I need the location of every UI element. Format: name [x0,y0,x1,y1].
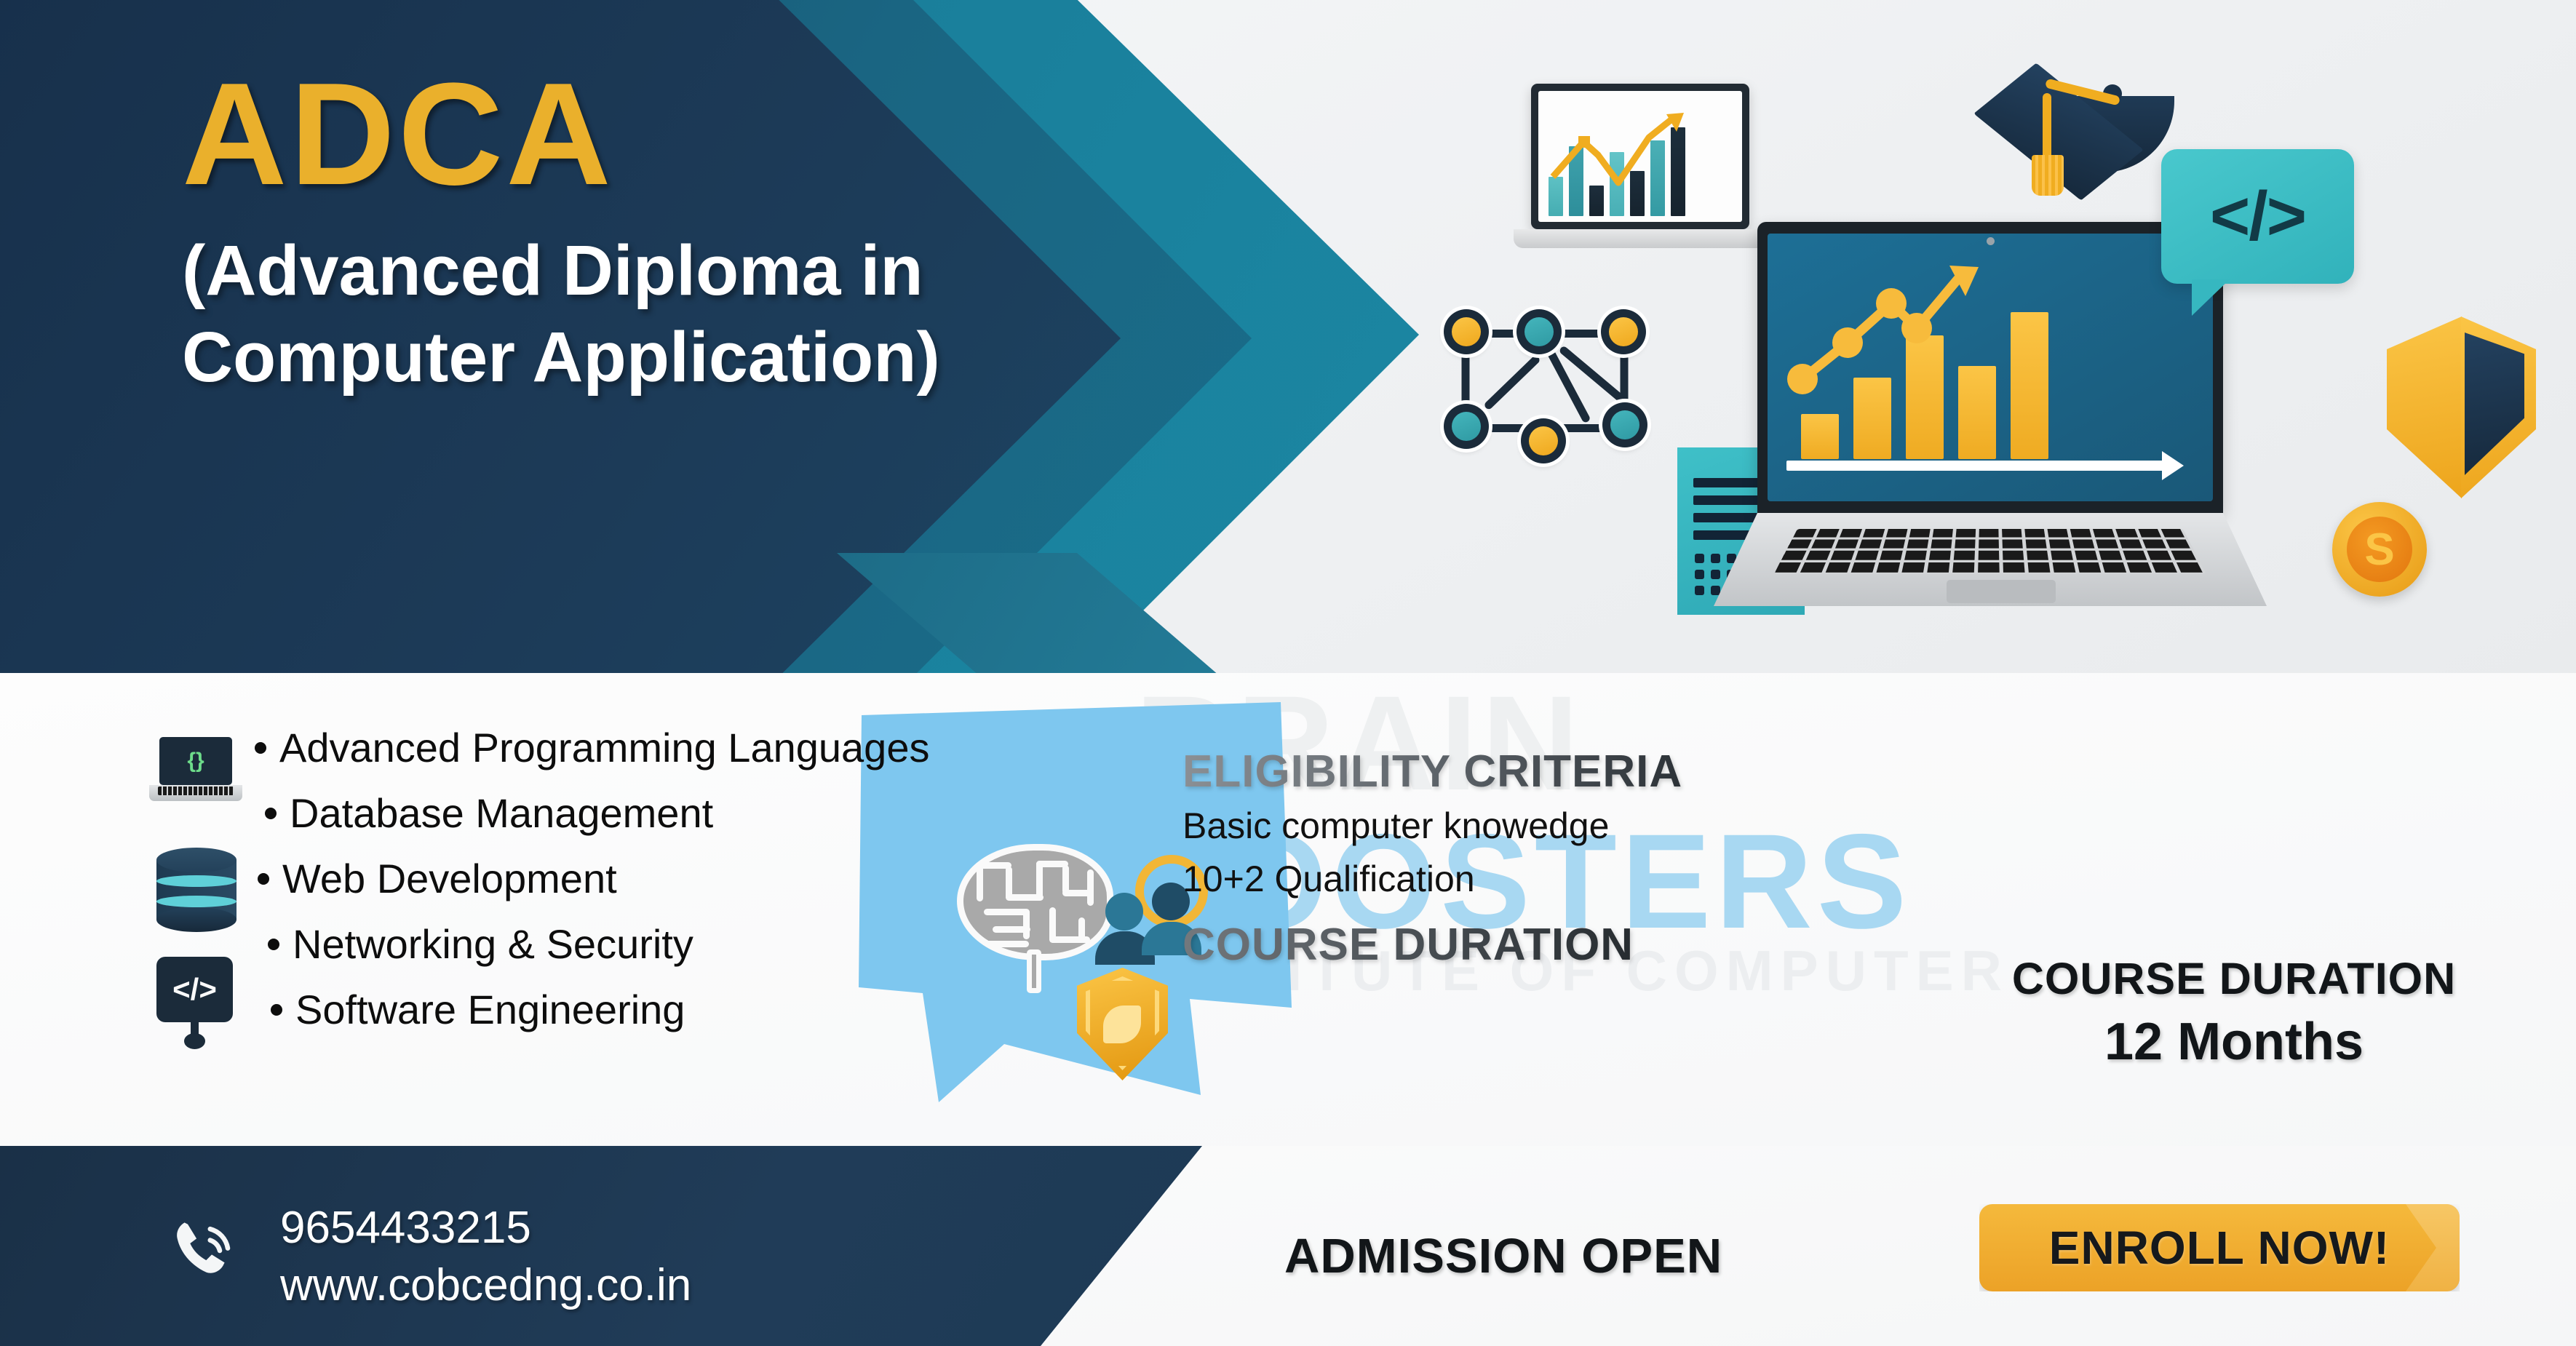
db-ring [156,896,236,907]
network-node [1516,309,1562,354]
laptop-icon-keys [158,787,234,795]
laptop-code-icon: {} [149,737,242,810]
laptop-trackpad [1947,580,2056,603]
code-icon-box: </> [156,957,233,1022]
bullet-dot [258,873,269,885]
db-ring [156,875,236,887]
db-bottom [156,907,236,932]
list-item-label: Advanced Programming Languages [279,725,929,770]
course-full-name: (Advanced Diploma in Computer Applicatio… [182,227,1142,401]
bullet-dot [265,808,277,819]
eligibility-line-2: 10+2 Qualification [1182,858,1910,901]
laptop-icon-screen: {} [159,737,232,785]
network-nodes-icon [1441,309,1681,477]
syllabus-list: Advanced Programming Languages Database … [255,728,1128,1055]
bullet-dot [255,742,266,754]
bullet-dot [271,1004,282,1016]
course-duration-value: 12 Months [1957,1016,2511,1068]
contact-website[interactable]: www.cobcedng.co.in [280,1257,691,1314]
code-bubble-text: </> [2161,149,2354,284]
list-item-label: Software Engineering [295,987,685,1032]
list-item: Software Engineering [271,989,1128,1030]
eligibility-block: ELIGIBILITY CRITERIA Basic computer know… [1182,749,1910,968]
list-item: Advanced Programming Languages [255,728,1128,768]
contact-info: 9654433215 www.cobcedng.co.in [280,1199,691,1315]
network-node [1444,309,1489,354]
course-duration-block: COURSE DURATION 12 Months [1957,957,2511,1068]
list-item-label: Networking & Security [293,921,693,967]
mini-laptop-screen [1531,84,1749,229]
db-top [156,848,236,872]
list-item-label: Database Management [290,790,713,836]
admission-open-text: ADMISSION OPEN [1284,1228,1722,1284]
tassel-cord [2043,93,2051,160]
dollar-coin-icon: S [2332,502,2427,597]
shield-left-half [2387,316,2462,498]
coin-symbol: S [2347,517,2412,582]
laptop-keyboard [1774,529,2206,574]
laptop-axis-arrow [1786,461,2165,471]
network-node [1444,404,1489,449]
promo-banner: ADCA (Advanced Diploma in Computer Appli… [0,0,2576,1346]
network-node [1601,309,1646,354]
bullet-dot [268,939,279,950]
list-item: Networking & Security [268,924,1128,965]
laptop-screen [1757,222,2223,513]
code-icon-foot [184,1033,205,1049]
enroll-now-label: ENROLL NOW! [2049,1221,2390,1275]
phone-icon [164,1211,244,1291]
list-item-label: Web Development [282,856,617,901]
list-item: Web Development [258,859,1128,899]
tassel-fringe [2032,155,2064,196]
course-full-name-line2: Computer Application) [182,314,1142,400]
list-item: Database Management [265,793,1128,834]
contact-phone[interactable]: 9654433215 [280,1199,691,1257]
course-code-title: ADCA [182,58,1142,211]
code-tag-icon: </> [149,957,240,1048]
database-icon [156,848,236,931]
growth-trend-line-icon [1768,234,2204,474]
enroll-now-button[interactable]: ENROLL NOW! [1979,1204,2460,1291]
laptop-screen-content [1768,234,2213,501]
network-node [1521,418,1566,463]
enroll-ribbon-notch [2406,1204,2460,1291]
eligibility-heading: ELIGIBILITY CRITERIA [1182,749,1910,795]
mini-laptop-chart [1538,91,1742,222]
course-full-name-line1: (Advanced Diploma in [182,227,1142,314]
illustration-cluster: </> S [1426,0,2576,713]
mini-trend-line-icon [1538,91,1742,222]
network-node [1602,402,1647,447]
code-speech-bubble-icon: </> [2161,149,2354,284]
course-duration-heading-mid: COURSE DURATION [1182,923,1910,968]
security-shield-icon [2387,316,2536,498]
eligibility-line-1: Basic computer knowedge [1182,805,1910,848]
hero-title-block: ADCA (Advanced Diploma in Computer Appli… [182,58,1142,401]
course-duration-heading: COURSE DURATION [1957,957,2511,1001]
